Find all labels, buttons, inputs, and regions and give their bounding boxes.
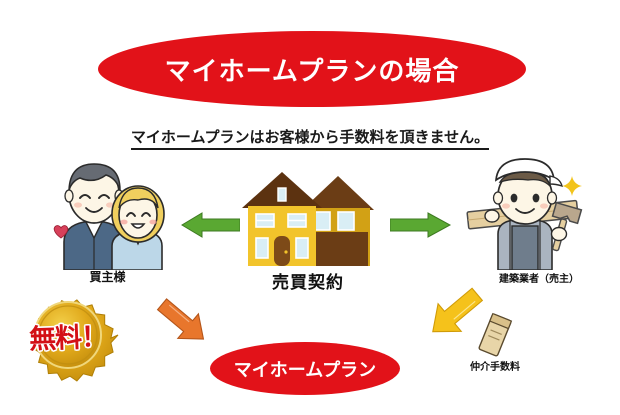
free-badge-label: 無料！	[12, 283, 123, 387]
buyer-label: 買主様	[60, 268, 155, 285]
carpenter-icon	[462, 158, 588, 270]
fee-label: 仲介手数料	[448, 358, 542, 373]
money-envelope-icon	[475, 312, 515, 358]
arrow-house-to-buyer	[180, 212, 240, 242]
arrow-house-to-builder	[390, 212, 452, 242]
sparkle-icon	[562, 176, 582, 196]
subtitle: マイホームプランはお客様から手数料を頂きません。	[0, 126, 620, 147]
arrow-buyer-to-plan	[150, 292, 214, 354]
smiling-couple-icon	[42, 158, 172, 270]
fee-figure	[475, 312, 515, 358]
page-title: マイホームプランの場合	[98, 31, 526, 107]
subtitle-text: マイホームプランはお客様から手数料を頂きません。	[131, 128, 489, 150]
plan-ellipse-label: マイホームプラン	[210, 342, 400, 395]
builder-label: 建築業者（売主）	[487, 270, 591, 285]
builder-figure	[462, 158, 588, 270]
diagram-canvas: マイホームプランの場合 マイホームプランはお客様から手数料を頂きません。	[0, 0, 620, 415]
house-figure	[240, 170, 376, 268]
heart-icon	[52, 222, 70, 240]
house-label: 売買契約	[248, 268, 368, 293]
house-icon	[240, 170, 376, 268]
buyer-figure	[42, 158, 172, 270]
